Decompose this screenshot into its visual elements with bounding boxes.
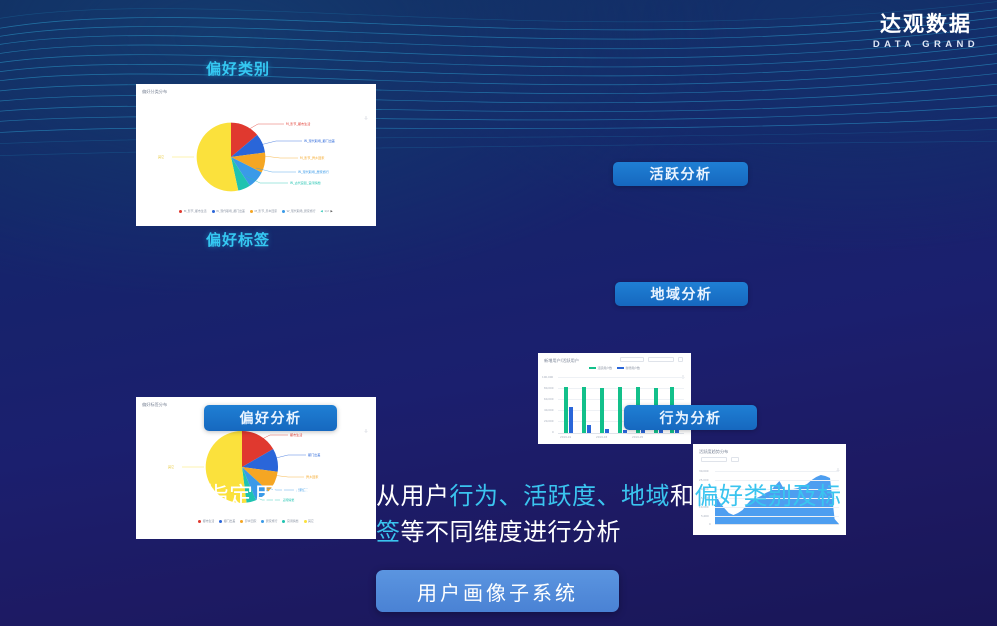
pie-slice-label: 其它	[168, 464, 174, 469]
legend-item[interactable]: 活跃用户数	[589, 366, 612, 370]
slide-root: 达观数据 DATA GRAND 偏好类别 偏好分类分布	[0, 0, 997, 626]
user-profile-subsystem-button[interactable]: 用户画像子系统	[376, 570, 619, 612]
bar-legend: 活跃用户数 新增用户数	[538, 366, 691, 370]
legend-item[interactable]: W_现代职场_都门出差	[212, 209, 245, 213]
label-preference-tag: 偏好标签	[206, 229, 270, 250]
y-tick: 0	[552, 430, 554, 434]
pie-legend: M_影节_都市生活 W_现代职场_都门出差 M_影节_异乡回家 W_现代职场_居…	[136, 209, 376, 213]
filter-select[interactable]	[731, 457, 739, 462]
chart-toolbar[interactable]	[701, 457, 739, 462]
x-tick: 2019-05	[632, 435, 643, 439]
caption-text-3: 等不同维度进行分析	[401, 518, 622, 546]
legend-item[interactable]: M_影节_异乡回家	[250, 209, 277, 213]
pie-slice-label: M_影节_异乡回家	[300, 155, 324, 160]
pie-slice-label: W_古代宫廷_宫闱情愁	[290, 180, 321, 185]
label-preference-category: 偏好类别	[206, 58, 270, 79]
date-range-picker[interactable]	[701, 457, 727, 462]
badge-active-analysis[interactable]: 活跃分析	[613, 162, 748, 186]
date-range-start[interactable]	[620, 357, 644, 362]
brand-logo-en: DATA GRAND	[873, 38, 979, 52]
x-tick: 2019-01	[560, 435, 571, 439]
card-active-bar[interactable]: 新增用户/活跃用户 活跃用户数 新增用户数	[538, 353, 691, 444]
pie-slice-label: 都市生活	[290, 432, 302, 437]
pie-leader-lines	[136, 84, 376, 226]
pie-slice-label: W_现代职场_都门出差	[304, 138, 335, 143]
pie-slice-label: W_现代职场_居家旅行	[298, 169, 329, 174]
caption-highlight-2: 偏好类别及标	[695, 482, 842, 510]
pie-slice-label: 其它	[158, 154, 164, 159]
brand-logo: 达观数据 DATA GRAND	[873, 12, 979, 52]
caption-highlight-1: 行为、活跃度、地域	[450, 482, 671, 510]
y-tick: 80,000	[544, 386, 553, 390]
caption-text-2: 和	[670, 482, 695, 510]
chart-toolbar[interactable]	[620, 357, 683, 362]
summary-caption: 对于指定用户群体将从用户行为、活跃度、地域和偏好类别及标签等不同维度进行分析	[0, 478, 997, 550]
legend-item[interactable]: M_影节_都市生活	[179, 209, 206, 213]
pie-slice-label: M_影节_都市生活	[286, 121, 310, 126]
legend-item[interactable]: 新增用户数	[617, 366, 640, 370]
caption-highlight-3: 签	[376, 518, 401, 546]
pie-slice-label: 都门出差	[308, 452, 320, 457]
caption-text-1: 对于指定用户群体将从用户	[156, 482, 450, 510]
date-range-end[interactable]	[648, 357, 674, 362]
x-tick: 2019-03	[596, 435, 607, 439]
badge-preference-analysis[interactable]: 偏好分析	[204, 405, 337, 431]
legend-pager[interactable]: ◀ 1/2 ▶	[321, 209, 333, 213]
y-tick: 60,000	[544, 397, 553, 401]
y-tick: 30,000	[699, 469, 708, 473]
y-tick: 100,000	[542, 375, 553, 379]
y-tick: 20,000	[544, 419, 553, 423]
y-tick: 40,000	[544, 408, 553, 412]
chart-title: 新增用户/活跃用户	[544, 358, 579, 364]
chart-title: 活跃度趋势分布	[699, 449, 728, 455]
refresh-icon[interactable]	[678, 357, 683, 362]
card-preference-category-pie[interactable]: 偏好分类分布 M_影节_都市生活 W_	[136, 84, 376, 226]
brand-logo-cn: 达观数据	[873, 12, 979, 36]
badge-region-analysis[interactable]: 地域分析	[615, 282, 748, 306]
legend-item[interactable]: W_现代职场_居家旅行	[282, 209, 315, 213]
badge-behavior-analysis[interactable]: 行为分析	[624, 405, 757, 430]
